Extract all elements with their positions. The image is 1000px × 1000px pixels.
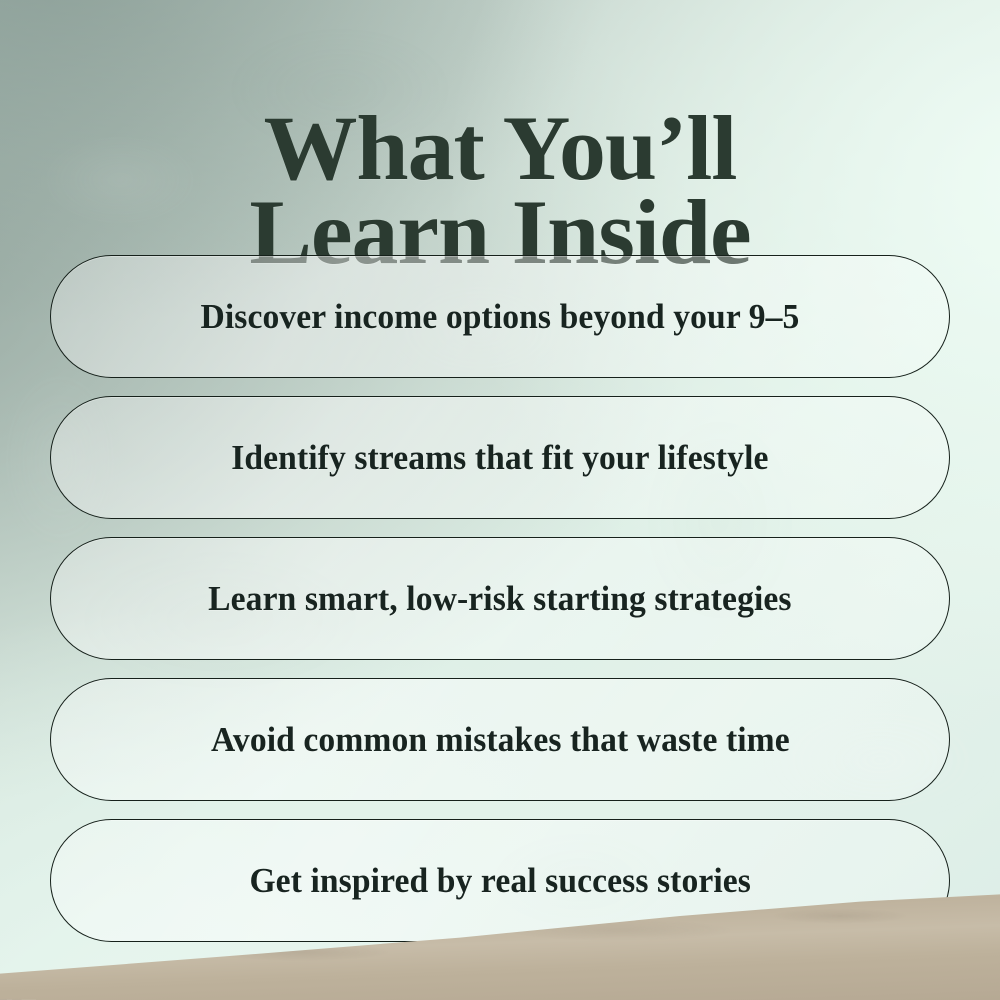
benefit-pill-1[interactable]: Discover income options beyond your 9–5 [50, 255, 950, 378]
benefit-pill-3[interactable]: Learn smart, low-risk starting strategie… [50, 537, 950, 660]
poster-canvas: What You’ll Learn Inside Discover income… [0, 0, 1000, 1000]
page-title: What You’ll Learn Inside [0, 106, 1000, 275]
benefit-pill-label: Avoid common mistakes that waste time [211, 722, 790, 757]
page-title-line-1: What You’ll [0, 106, 1000, 191]
benefit-list: Discover income options beyond your 9–5 … [50, 255, 950, 942]
benefit-pill-label: Get inspired by real success stories [249, 863, 751, 898]
benefit-pill-2[interactable]: Identify streams that fit your lifestyle [50, 396, 950, 519]
benefit-pill-label: Learn smart, low-risk starting strategie… [208, 581, 791, 616]
benefit-pill-4[interactable]: Avoid common mistakes that waste time [50, 678, 950, 801]
benefit-pill-5[interactable]: Get inspired by real success stories [50, 819, 950, 942]
benefit-pill-label: Discover income options beyond your 9–5 [201, 299, 800, 334]
benefit-pill-label: Identify streams that fit your lifestyle [231, 440, 768, 475]
